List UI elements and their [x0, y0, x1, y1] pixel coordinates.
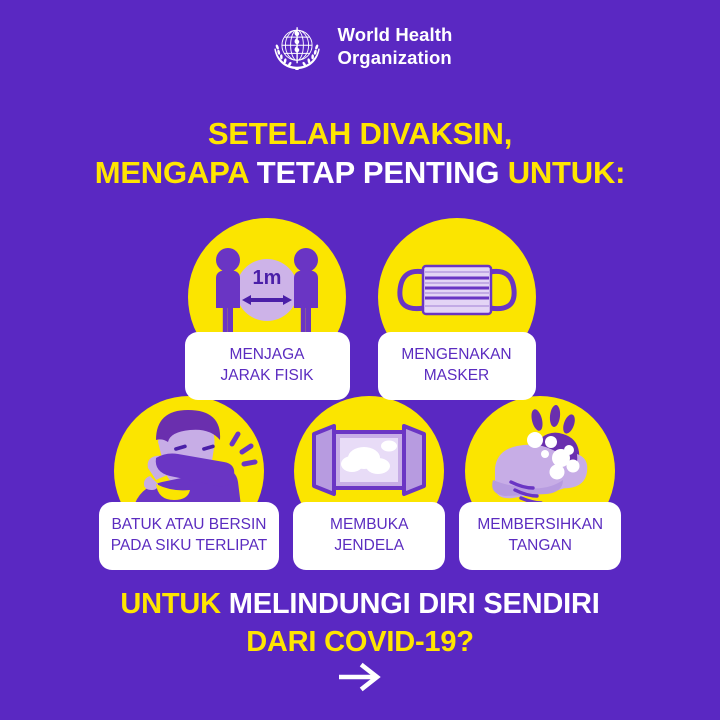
who-emblem-icon [268, 18, 326, 76]
footer-line-1-part-a: UNTUK [120, 588, 228, 620]
card-membersihkan-tangan[interactable]: MEMBERSIHKAN TANGAN [459, 396, 621, 570]
card-label-membersihkan-tangan: MEMBERSIHKAN TANGAN [459, 502, 621, 570]
card-label-menjaga-jarak-fisik: MENJAGA JARAK FISIK [185, 332, 350, 400]
footer-line-1: UNTUK MELINDUNGI DIRI SENDIRI [0, 586, 720, 624]
card-menjaga-jarak-fisik[interactable]: 1m MENJAGA JARAK FISIK [185, 218, 350, 400]
card-label-batuk-atau-bersin: BATUK ATAU BERSIN PADA SIKU TERLIPAT [99, 502, 279, 570]
card-label-mengenakan-masker: MENGENAKAN MASKER [378, 332, 536, 400]
measures-row-top: 1m MENJAGA JARAK FISIK [0, 218, 720, 400]
card-label-membuka-jendela: MEMBUKA JENDELA [293, 502, 445, 570]
arrow-right-icon[interactable] [335, 662, 385, 697]
footer-line-1-part-b: MELINDUNGI DIRI SENDIRI [229, 588, 600, 620]
distance-value-label: 1m [253, 267, 282, 289]
card-membuka-jendela[interactable]: MEMBUKA JENDELA [293, 396, 445, 570]
headline-line-2-part-c: UNTUK: [508, 155, 626, 190]
footer-question: UNTUK MELINDUNGI DIRI SENDIRI DARI COVID… [0, 586, 720, 661]
footer-line-2: DARI COVID-19? [0, 624, 720, 662]
headline-line-2-part-a: MENGAPA [95, 155, 257, 190]
arrow-right-container[interactable] [0, 662, 720, 697]
headline-line-1: SETELAH DIVAKSIN, [0, 114, 720, 153]
card-mengenakan-masker[interactable]: MENGENAKAN MASKER [378, 218, 536, 400]
measures-row-bottom: BATUK ATAU BERSIN PADA SIKU TERLIPAT MEM… [0, 396, 720, 570]
headline-line-2: MENGAPA TETAP PENTING UNTUK: [0, 153, 720, 192]
page-title: SETELAH DIVAKSIN, MENGAPA TETAP PENTING … [0, 114, 720, 192]
who-wordmark: World Health Organization [338, 24, 453, 69]
headline-line-2-part-b: TETAP PENTING [257, 155, 508, 190]
card-batuk-atau-bersin[interactable]: BATUK ATAU BERSIN PADA SIKU TERLIPAT [99, 396, 279, 570]
who-brand-header: World Health Organization [0, 18, 720, 76]
